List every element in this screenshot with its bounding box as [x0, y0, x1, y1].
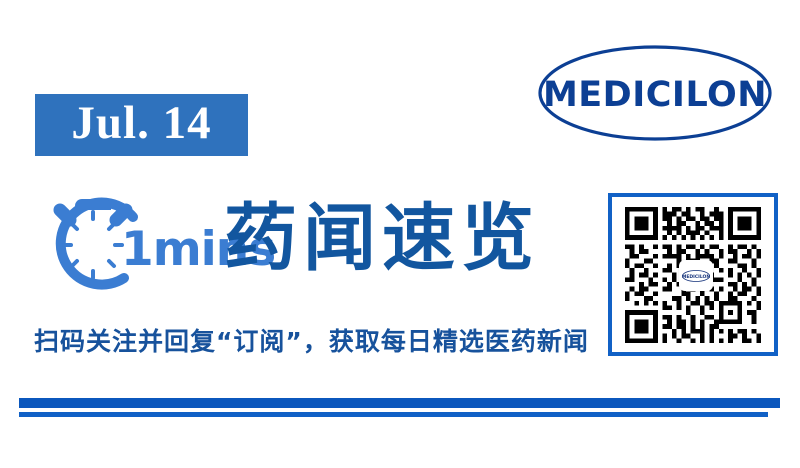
poster-canvas: Jul. 14 MEDICILON [0, 0, 800, 468]
footer-rule-thin [19, 412, 768, 417]
footer-rule-thick [19, 398, 780, 408]
headline-title-cn: 药闻速览 [224, 202, 540, 275]
date-badge-label: Jul. 14 [71, 100, 211, 151]
qr-code-image: MEDICILON [624, 207, 762, 343]
qr-center-brand-text: MEDICILON [682, 274, 710, 280]
headline-block: 1mins 药闻速览 [38, 190, 558, 302]
subscribe-instruction: 扫码关注并回复“订阅”，获取每日精选医药新闻 [34, 327, 589, 357]
qr-code-frame[interactable]: MEDICILON [608, 193, 778, 356]
medicilon-logo-icon: MEDICILON [537, 44, 773, 142]
clock-numeral: 1 [121, 222, 153, 277]
medicilon-logo: MEDICILON [537, 44, 773, 142]
medicilon-logo-text: MEDICILON [543, 75, 767, 115]
qr-center-brand-logo: MEDICILON [679, 260, 713, 291]
date-badge: Jul. 14 [35, 94, 248, 156]
